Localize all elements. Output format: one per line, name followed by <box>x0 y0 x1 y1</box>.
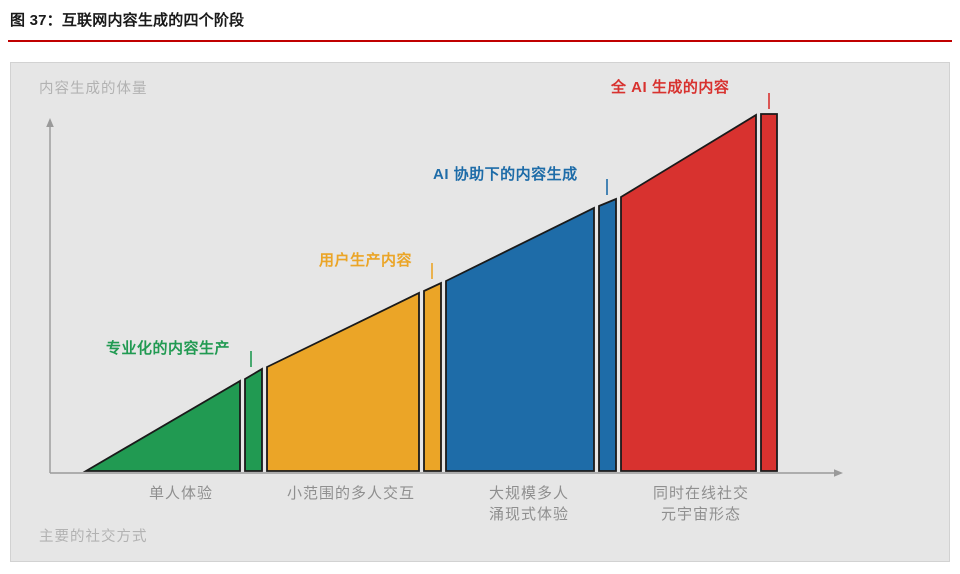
y-axis-title: 内容生成的体量 <box>39 77 148 98</box>
category-label-3: 大规模多人 涌现式体验 <box>439 483 619 525</box>
figure-header: 图 37：互联网内容生成的四个阶段 <box>0 0 960 44</box>
stage-1-shape[interactable] <box>86 369 262 471</box>
category-label-3-line-1: 大规模多人 <box>439 483 619 504</box>
stage-3-shape[interactable] <box>446 199 616 471</box>
chart-panel: 内容生成的体量 主要的社交方式 专业化的内容生产 用户生产内容 AI 协助下的内… <box>10 62 950 562</box>
x-axis-title: 主要的社交方式 <box>39 525 148 546</box>
category-label-3-line-2: 涌现式体验 <box>439 504 619 525</box>
stage-3-ramp <box>446 208 594 471</box>
stage-3-riser <box>599 199 616 471</box>
stage-1-riser <box>245 369 262 471</box>
category-label-4-line-1: 同时在线社交 <box>611 483 791 504</box>
category-label-2-line-1: 小范围的多人交互 <box>241 483 461 504</box>
y-axis <box>46 118 54 473</box>
stage-1-label: 专业化的内容生产 <box>106 337 230 358</box>
title-divider <box>8 40 952 42</box>
stage-1-ramp <box>86 381 240 471</box>
category-label-1-line-1: 单人体验 <box>101 483 261 504</box>
stage-3-label: AI 协助下的内容生成 <box>433 163 578 184</box>
stage-2-label: 用户生产内容 <box>319 249 412 270</box>
stage-4-label: 全 AI 生成的内容 <box>611 76 729 97</box>
stage-2-shape[interactable] <box>267 283 441 471</box>
page-title: 图 37：互联网内容生成的四个阶段 <box>10 12 950 30</box>
category-label-4-line-2: 元宇宙形态 <box>611 504 791 525</box>
stage-4-shape[interactable] <box>621 114 777 471</box>
category-label-1: 单人体验 <box>101 483 261 504</box>
category-label-4: 同时在线社交 元宇宙形态 <box>611 483 791 525</box>
stage-4-riser <box>761 114 777 471</box>
stage-2-riser <box>424 283 441 471</box>
category-label-2: 小范围的多人交互 <box>241 483 461 504</box>
stage-2-ramp <box>267 293 419 471</box>
stage-4-ramp <box>621 115 756 471</box>
